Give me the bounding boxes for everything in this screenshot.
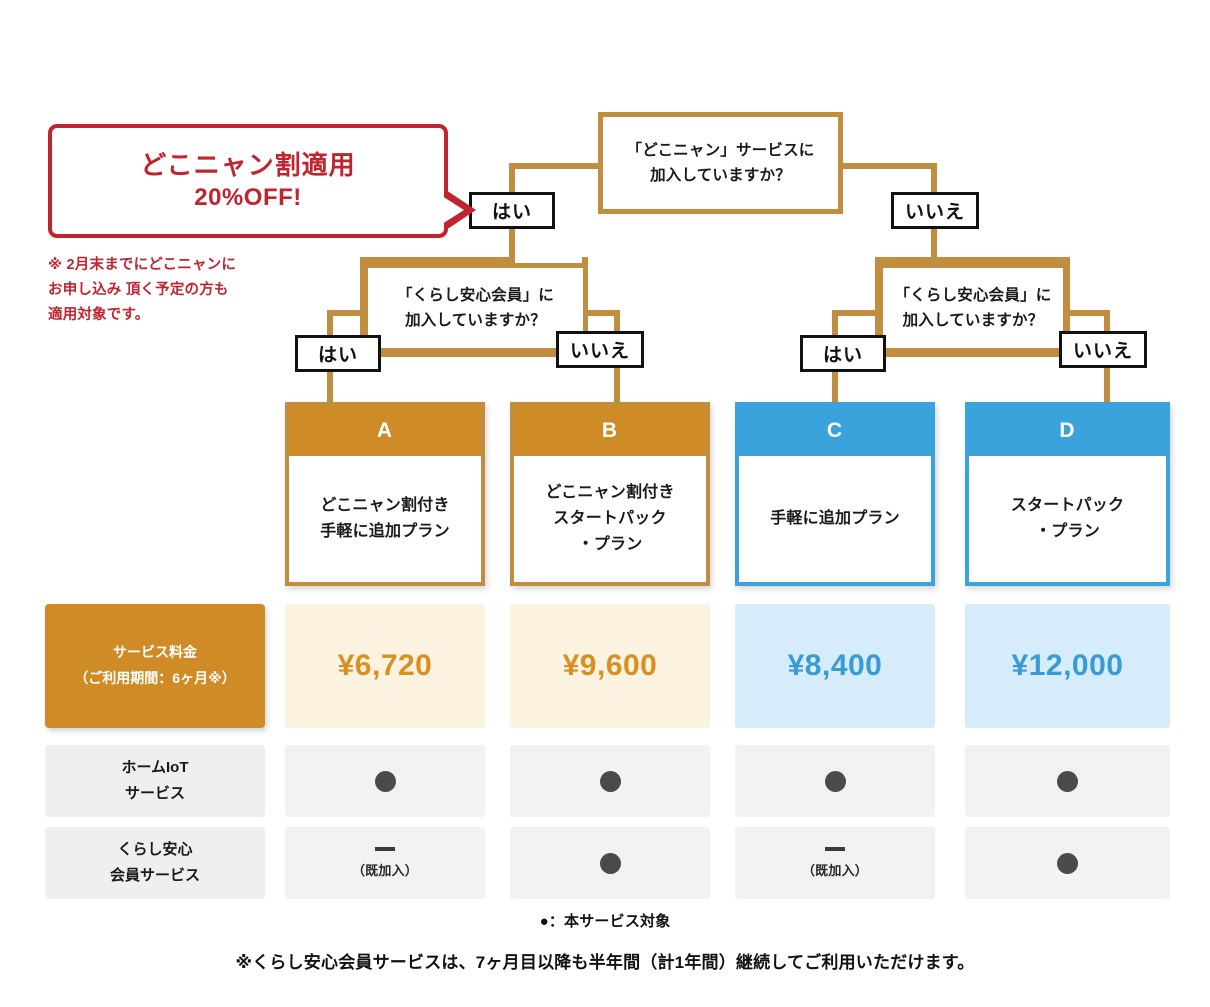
discount-callout-line1: どこニャン割適用 [140,148,355,183]
plan-card-A-id: A [289,406,481,456]
discount-callout-line2: 20%OFF! [194,182,302,214]
kurashi-cell-D [965,827,1170,899]
question-box-kurashi-left: 「くらし安心会員」に 加入していますか？ [363,263,588,353]
home-iot-cell-C [735,745,935,817]
answer-left-no[interactable]: いいえ [556,331,644,368]
included-dot-icon [1057,853,1078,874]
question-kurashi-right-line1: 「くらし安心会員」に [894,283,1051,308]
kurashi-cell-A-note: （既加入） [352,860,418,879]
plan-card-D-name: スタートパック ・プラン [969,456,1166,582]
answer-right-no[interactable]: いいえ [1059,331,1147,368]
footnote-text: ※くらし安心会員サービスは、7ヶ月目以降も半年間（計1年間）継続してご利用いただ… [0,948,1210,973]
price-value-C: ¥8,400 [788,649,883,683]
not-included-dash-icon [375,847,395,851]
row-label-kurashi-line2: 会員サービス [110,863,200,889]
connector-right-yes-horizontal [832,310,880,316]
plan-card-B-name-line2: スタートパック [545,506,674,532]
row-label-kurashi: くらし安心 会員サービス [45,827,265,899]
price-cell-D: ¥12,000 [965,604,1170,728]
price-value-D: ¥12,000 [1012,649,1124,683]
connector-root-right-horizontal [840,163,937,169]
plan-card-C-id: C [739,406,931,456]
price-cell-C: ¥8,400 [735,604,935,728]
kurashi-cell-A: （既加入） [285,827,485,899]
price-cell-A: ¥6,720 [285,604,485,728]
home-iot-cell-D [965,745,1170,817]
plan-card-B[interactable]: B どこニャン割付き スタートパック ・プラン [510,402,710,586]
not-included-dash-icon [825,847,845,851]
price-value-A: ¥6,720 [338,649,433,683]
question-kurashi-left-line1: 「くらし安心会員」に [397,283,554,308]
plan-card-D[interactable]: D スタートパック ・プラン [965,402,1170,586]
question-kurashi-right-line2: 加入していますか？ [903,308,1044,333]
row-label-home-iot-line1: ホームIoT [121,755,188,781]
discount-note-line2: お申し込み 頂く予定の方も [48,278,348,303]
answer-left-yes[interactable]: はい [295,335,381,372]
plan-card-A-name-line2: 手軽に追加プラン [320,519,450,545]
home-iot-cell-A [285,745,485,817]
plan-card-C-name-line1: 手軽に追加プラン [770,506,900,532]
plan-card-B-name-line3: ・プラン [545,532,674,558]
infographic-canvas: 「どこニャン」サービスに 加入していますか？ 「くらし安心会員」に 加入していま… [0,0,1210,1007]
discount-callout: どこニャン割適用 20%OFF! [48,124,448,238]
plan-card-C[interactable]: C 手軽に追加プラン [735,402,935,586]
kurashi-cell-C: （既加入） [735,827,935,899]
row-label-service-fee-line1: サービス料金 [113,640,197,666]
plan-card-C-name: 手軽に追加プラン [739,456,931,582]
included-dot-icon [1057,771,1078,792]
included-dot-icon [375,771,396,792]
price-cell-B: ¥9,600 [510,604,710,728]
home-iot-cell-B [510,745,710,817]
question-dokonyan-line2: 加入していますか？ [650,163,791,188]
row-label-home-iot: ホームIoT サービス [45,745,265,817]
included-dot-icon [825,771,846,792]
answer-right-yes[interactable]: はい [800,335,886,372]
plan-card-D-name-line2: ・プラン [1011,519,1124,545]
kurashi-cell-C-note: （既加入） [802,860,868,879]
price-value-B: ¥9,600 [563,649,658,683]
question-dokonyan-line1: 「どこニャン」サービスに [627,138,815,163]
plan-card-B-name-line1: どこニャン割付き [545,480,674,506]
legend-text: ●：本サービス対象 [0,910,1210,931]
callout-tail-fill [442,196,464,224]
question-box-dokonyan: 「どこニャン」サービスに 加入していますか？ [598,112,843,214]
plan-card-A-name: どこニャン割付き 手軽に追加プラン [289,456,481,582]
kurashi-cell-B [510,827,710,899]
connector-root-left-horizontal [509,163,601,169]
plan-card-B-name: どこニャン割付き スタートパック ・プラン [514,456,706,582]
discount-note-line1: ※ 2月末までにどこニャンに [48,253,348,278]
included-dot-icon [600,771,621,792]
included-dot-icon [600,853,621,874]
row-label-service-fee: サービス料金 （ご利用期間：6ヶ月※） [45,604,265,728]
row-label-kurashi-line1: くらし安心 [117,837,192,863]
answer-root-yes[interactable]: はい [469,192,555,229]
plan-card-D-name-line1: スタートパック [1011,493,1124,519]
row-label-home-iot-line2: サービス [125,781,185,807]
row-label-service-fee-line2: （ご利用期間：6ヶ月※） [74,666,235,692]
plan-card-A[interactable]: A どこニャン割付き 手軽に追加プラン [285,402,485,586]
plan-card-A-name-line1: どこニャン割付き [320,493,450,519]
answer-root-no[interactable]: いいえ [891,192,979,229]
discount-note: ※ 2月末までにどこニャンに お申し込み 頂く予定の方も 適用対象です。 [48,253,348,328]
question-box-kurashi-right: 「くらし安心会員」に 加入していますか？ [878,263,1068,353]
connector-right-no-horizontal [1062,310,1110,316]
discount-note-line3: 適用対象です。 [48,303,348,328]
plan-card-D-id: D [969,406,1166,456]
plan-card-B-id: B [514,406,706,456]
question-kurashi-left-line2: 加入していますか？ [405,308,546,333]
